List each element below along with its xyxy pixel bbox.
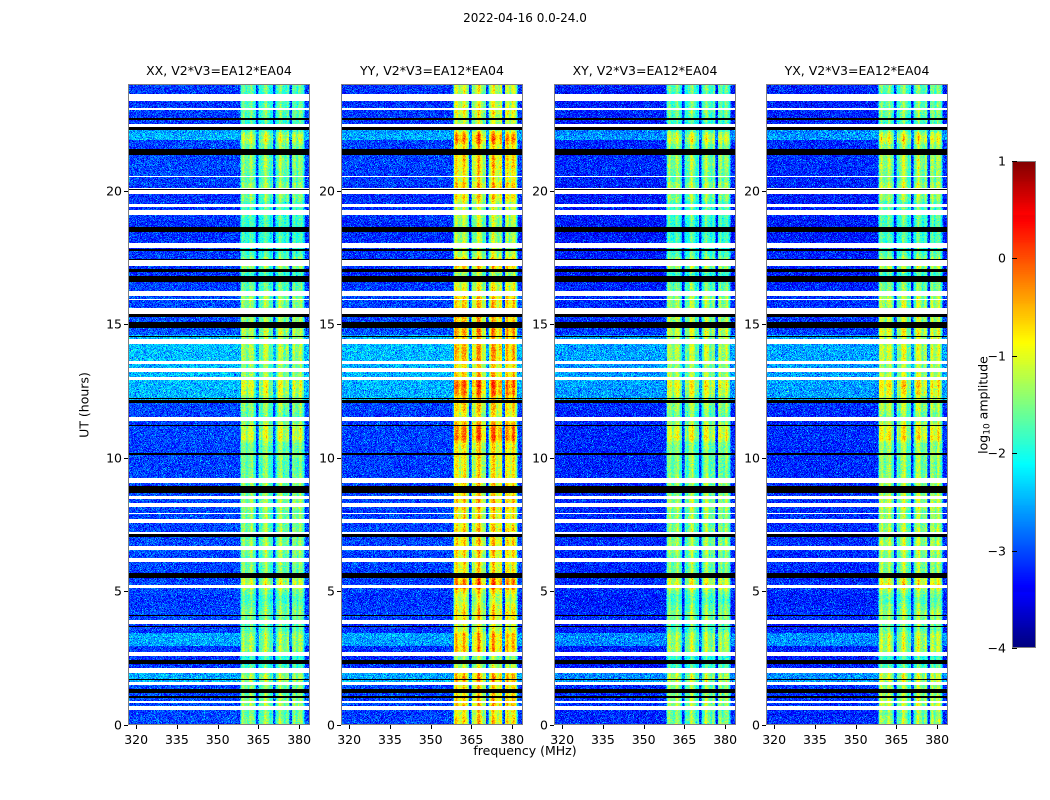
x-tick-mark <box>603 725 604 729</box>
colorbar-tick-label: −4 <box>988 641 1006 656</box>
y-tick-mark <box>337 725 341 726</box>
colorbar-tick-label: −3 <box>988 543 1006 558</box>
y-tick-label: 20 <box>319 183 335 198</box>
x-tick-mark <box>725 725 726 729</box>
y-tick-label: 5 <box>327 584 335 599</box>
x-tick-mark <box>684 725 685 729</box>
colorbar-label: log10 amplitude <box>975 356 992 454</box>
panel-title-xx: XX, V2*V3=EA12*EA04 <box>146 63 292 78</box>
y-tick-mark <box>337 591 341 592</box>
y-tick-label: 0 <box>752 718 760 733</box>
x-tick-mark <box>471 725 472 729</box>
x-tick-mark <box>815 725 816 729</box>
y-tick-label: 15 <box>532 317 548 332</box>
panel-title-yy: YY, V2*V3=EA12*EA04 <box>360 63 504 78</box>
waterfall-image-yy <box>341 84 523 725</box>
y-tick-mark <box>124 458 128 459</box>
x-tick-mark <box>562 725 563 729</box>
y-tick-mark <box>762 725 766 726</box>
colorbar-tick-mark <box>1012 453 1017 454</box>
colorbar[interactable]: −4−3−2−101 <box>1012 161 1036 648</box>
y-tick-label: 20 <box>106 183 122 198</box>
x-tick-mark <box>644 725 645 729</box>
panel-title-yx: YX, V2*V3=EA12*EA04 <box>785 63 930 78</box>
y-tick-mark <box>124 324 128 325</box>
x-tick-mark <box>218 725 219 729</box>
y-tick-mark <box>550 191 554 192</box>
panel-xx[interactable]: XX, V2*V3=EA12*EA04 32033535036538005101… <box>128 84 310 725</box>
colorbar-tick-mark <box>1012 258 1017 259</box>
x-tick-mark <box>349 725 350 729</box>
x-tick-mark <box>390 725 391 729</box>
waterfall-image-xx <box>128 84 310 725</box>
y-tick-label: 5 <box>540 584 548 599</box>
y-tick-mark <box>337 191 341 192</box>
x-tick-mark <box>512 725 513 729</box>
y-tick-mark <box>762 458 766 459</box>
y-tick-mark <box>762 324 766 325</box>
y-tick-label: 10 <box>106 450 122 465</box>
y-tick-mark <box>762 191 766 192</box>
colorbar-tick-mark <box>1012 648 1017 649</box>
y-tick-label: 0 <box>114 718 122 733</box>
x-tick-mark <box>856 725 857 729</box>
y-tick-label: 5 <box>114 584 122 599</box>
y-tick-label: 15 <box>106 317 122 332</box>
figure-suptitle: 2022-04-16 0.0-24.0 <box>0 11 1050 25</box>
colorbar-tick-label: 1 <box>998 154 1006 169</box>
colorbar-label-subscript: 10 <box>983 423 993 434</box>
y-tick-mark <box>124 725 128 726</box>
y-tick-mark <box>550 591 554 592</box>
y-tick-mark <box>124 191 128 192</box>
y-tick-label: 10 <box>319 450 335 465</box>
x-axis-label: frequency (MHz) <box>0 743 1050 758</box>
panel-yy[interactable]: YY, V2*V3=EA12*EA04 32033535036538005101… <box>341 84 523 725</box>
y-tick-mark <box>124 591 128 592</box>
y-tick-label: 5 <box>752 584 760 599</box>
colorbar-tick-mark <box>1012 551 1017 552</box>
x-tick-mark <box>299 725 300 729</box>
y-tick-mark <box>550 324 554 325</box>
x-tick-mark <box>937 725 938 729</box>
y-tick-label: 10 <box>532 450 548 465</box>
x-tick-mark <box>177 725 178 729</box>
panel-yx[interactable]: YX, V2*V3=EA12*EA04 32033535036538005101… <box>766 84 948 725</box>
y-axis-label: UT (hours) <box>77 372 92 438</box>
colorbar-tick-mark <box>1012 161 1017 162</box>
colorbar-tick-mark <box>1012 356 1017 357</box>
y-tick-mark <box>550 725 554 726</box>
y-tick-mark <box>550 458 554 459</box>
colorbar-label-suffix: amplitude <box>975 356 990 423</box>
x-tick-mark <box>258 725 259 729</box>
y-tick-label: 10 <box>744 450 760 465</box>
y-tick-label: 15 <box>319 317 335 332</box>
x-tick-mark <box>896 725 897 729</box>
panel-xy[interactable]: XY, V2*V3=EA12*EA04 32033535036538005101… <box>554 84 736 725</box>
y-tick-mark <box>337 324 341 325</box>
colorbar-label-prefix: log <box>975 435 990 454</box>
y-tick-label: 0 <box>540 718 548 733</box>
colorbar-tick-label: 0 <box>998 251 1006 266</box>
panel-title-xy: XY, V2*V3=EA12*EA04 <box>573 63 718 78</box>
figure-canvas-root: 2022-04-16 0.0-24.0 XX, V2*V3=EA12*EA04 … <box>0 0 1050 800</box>
x-tick-mark <box>431 725 432 729</box>
waterfall-image-yx <box>766 84 948 725</box>
x-tick-mark <box>774 725 775 729</box>
y-tick-mark <box>337 458 341 459</box>
waterfall-image-xy <box>554 84 736 725</box>
colorbar-gradient <box>1012 161 1036 648</box>
y-tick-label: 15 <box>744 317 760 332</box>
y-tick-mark <box>762 591 766 592</box>
y-tick-label: 20 <box>744 183 760 198</box>
y-tick-label: 0 <box>327 718 335 733</box>
y-tick-label: 20 <box>532 183 548 198</box>
x-tick-mark <box>136 725 137 729</box>
